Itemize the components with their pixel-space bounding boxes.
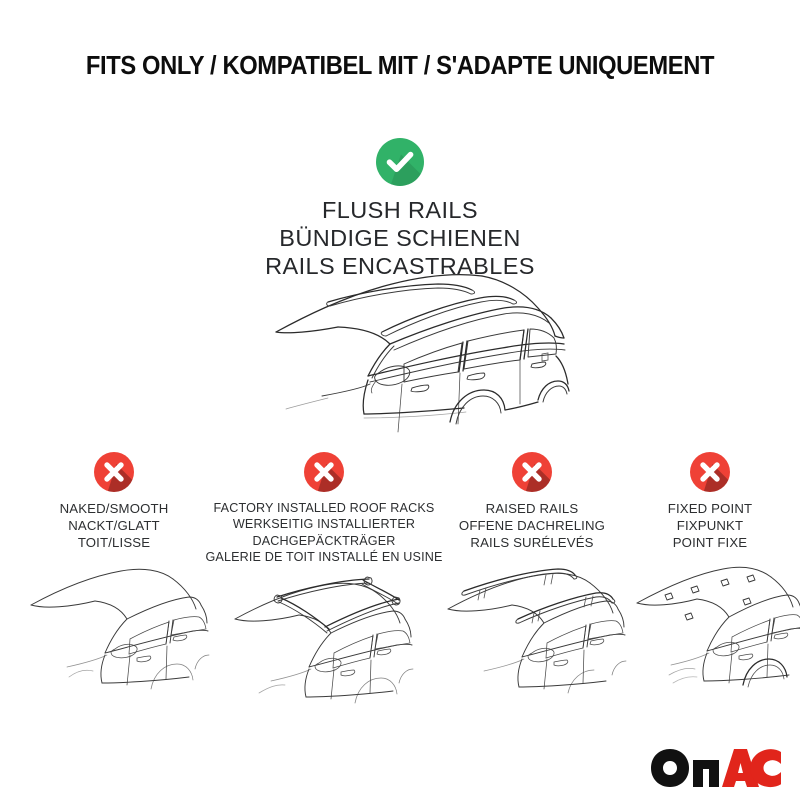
suv-naked-roof-illustration <box>8 557 220 702</box>
incompatible-labels: FIXED POINT FIXPUNKT POINT FIXE <box>625 500 795 551</box>
label-line-de: FIXPUNKT <box>625 517 795 534</box>
suv-fixed-point-illustration <box>625 557 795 702</box>
label-line-en: FACTORY INSTALLED ROOF RACKS <box>202 500 446 516</box>
incompatible-labels: RAISED RAILS OFFENE DACHRELING RAILS SUR… <box>432 500 632 551</box>
label-line-fr: RAILS SURÉLEVÉS <box>432 534 632 551</box>
incompatible-labels: NAKED/SMOOTH NACKT/GLATT TOIT/LISSE <box>8 500 220 551</box>
incompatible-section: NAKED/SMOOTH NACKT/GLATT TOIT/LISSE <box>0 448 800 748</box>
compatible-section: FLUSH RAILS BÜNDIGE SCHIENEN RAILS ENCAS… <box>0 138 800 281</box>
compatible-labels: FLUSH RAILS BÜNDIGE SCHIENEN RAILS ENCAS… <box>0 196 800 281</box>
label-line-de: NACKT/GLATT <box>8 517 220 534</box>
suv-flush-rails-illustration <box>252 272 572 437</box>
incompatible-item-raised-rails: RAISED RAILS OFFENE DACHRELING RAILS SUR… <box>432 448 632 702</box>
incompatible-labels: FACTORY INSTALLED ROOF RACKS WERKSEITIG … <box>202 500 446 565</box>
incompatible-item-naked-smooth: NAKED/SMOOTH NACKT/GLATT TOIT/LISSE <box>8 448 220 702</box>
suv-raised-rails-illustration <box>432 557 632 702</box>
check-circle-icon <box>376 138 424 186</box>
x-circle-icon <box>512 452 552 492</box>
fitment-infographic: FITS ONLY / KOMPATIBEL MIT / S'ADAPTE UN… <box>0 0 800 800</box>
label-line-fr: GALERIE DE TOIT INSTALLÉ EN USINE <box>202 549 446 565</box>
suv-factory-roof-rack-illustration <box>202 571 446 716</box>
compatible-label-de: BÜNDIGE SCHIENEN <box>0 224 800 252</box>
label-line-fr: POINT FIXE <box>625 534 795 551</box>
label-line-en: FIXED POINT <box>625 500 795 517</box>
incompatible-item-factory-roof-racks: FACTORY INSTALLED ROOF RACKS WERKSEITIG … <box>202 448 446 716</box>
label-line-de-1: WERKSEITIG INSTALLIERTER <box>202 516 446 532</box>
compatible-label-en: FLUSH RAILS <box>0 196 800 224</box>
label-line-fr: TOIT/LISSE <box>8 534 220 551</box>
omac-logo <box>650 748 782 788</box>
label-line-en: RAISED RAILS <box>432 500 632 517</box>
label-line-en: NAKED/SMOOTH <box>8 500 220 517</box>
x-circle-icon <box>304 452 344 492</box>
page-title: FITS ONLY / KOMPATIBEL MIT / S'ADAPTE UN… <box>28 52 772 81</box>
x-circle-icon <box>690 452 730 492</box>
incompatible-item-fixed-point: FIXED POINT FIXPUNKT POINT FIXE <box>625 448 795 702</box>
label-line-de: OFFENE DACHRELING <box>432 517 632 534</box>
x-circle-icon <box>94 452 134 492</box>
label-line-de-2: DACHGEPÄCKTRÄGER <box>202 533 446 549</box>
